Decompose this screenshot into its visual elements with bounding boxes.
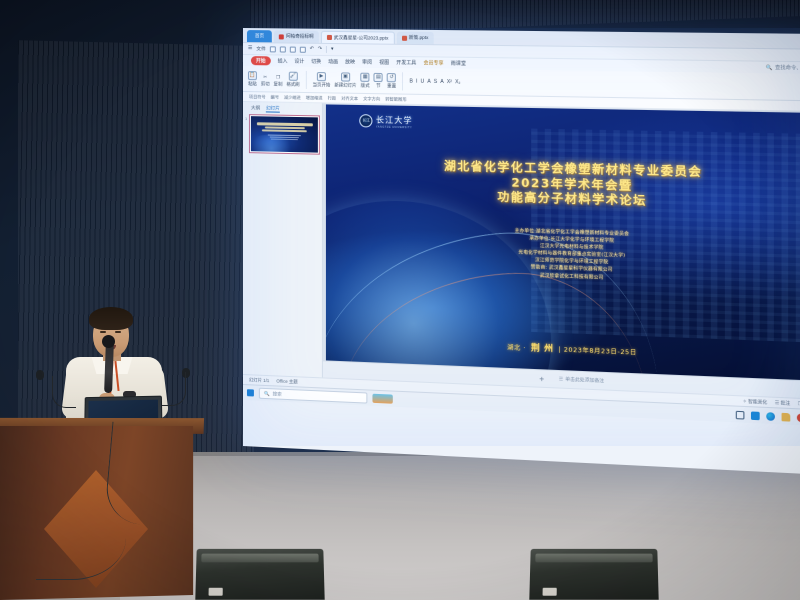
document-tab-1-label: 阿帕奇招标啊: [286, 33, 314, 39]
document-tab-2[interactable]: 武汉鑫星星-公司2023.pptx: [321, 31, 395, 44]
slide-canvas-pane: 长江 长江大学 YANGTZE UNIVERSITY 湖北省化学化工学会橡塑新材…: [323, 103, 800, 399]
document-tab-1[interactable]: 阿帕奇招标啊: [274, 30, 319, 43]
university-seal-icon: 长江: [360, 114, 373, 127]
tab-home[interactable]: 首页: [247, 30, 272, 42]
line-spacing-button[interactable]: 行距: [328, 95, 336, 101]
thumbnail-row[interactable]: 1: [245, 114, 320, 155]
powerpoint-icon: [327, 35, 332, 40]
print-icon[interactable]: [280, 46, 286, 52]
new-slide-button[interactable]: ▣ 新建幻灯片: [334, 72, 356, 88]
ribbon-search[interactable]: 🔍 查找命令、搜索模板: [766, 64, 800, 72]
start-from-page-button[interactable]: ▶ 当页开始: [313, 71, 331, 87]
ribbon-group-clipboard: 📋 粘贴 ✂ 剪切 ❐ 复制 🖌 格式刷: [248, 71, 300, 88]
tab-start[interactable]: 开始: [251, 56, 271, 65]
file-menu-button[interactable]: 文件: [256, 45, 266, 52]
tab-home-label: 首页: [255, 33, 264, 39]
tab-slides[interactable]: 幻灯片: [266, 105, 280, 112]
thumbnail-number: 1: [245, 114, 247, 121]
task-view-icon[interactable]: [736, 410, 745, 419]
cut-button[interactable]: ✂ 剪切: [261, 74, 270, 87]
layout-label: 版式: [361, 82, 370, 88]
tab-rain-classroom[interactable]: 雨课堂: [451, 60, 466, 67]
reset-icon: ↺: [387, 73, 396, 82]
numbering-button[interactable]: 编号: [271, 94, 279, 100]
paste-label: 粘贴: [248, 81, 257, 87]
tab-view[interactable]: 视图: [379, 59, 389, 66]
underline-button[interactable]: U: [420, 78, 424, 84]
file-explorer-icon[interactable]: [782, 412, 791, 421]
increase-indent-button[interactable]: 增加缩进: [306, 95, 323, 101]
mail-icon[interactable]: [751, 411, 760, 420]
convert-smartart-button[interactable]: 转智能图形: [385, 96, 406, 102]
tab-review[interactable]: 审阅: [362, 59, 372, 66]
start-from-page-label: 当页开始: [313, 82, 331, 88]
reset-button[interactable]: ↺ 重置: [387, 73, 396, 89]
hair: [89, 307, 133, 330]
save-icon[interactable]: [270, 46, 276, 52]
edge-icon[interactable]: [766, 412, 775, 421]
reset-label: 重置: [387, 83, 396, 89]
weather-widget[interactable]: [372, 394, 392, 404]
tab-developer[interactable]: 开发工具: [396, 59, 416, 66]
text-effect-button[interactable]: A: [440, 78, 443, 84]
slide-canvas[interactable]: 长江 长江大学 YANGTZE UNIVERSITY 湖北省化学化工学会橡塑新材…: [326, 104, 800, 381]
italic-button[interactable]: I: [416, 78, 417, 84]
align-text-button[interactable]: 对齐文本: [341, 95, 358, 101]
bold-button[interactable]: B: [409, 78, 412, 84]
university-name: 长江大学: [376, 114, 413, 126]
document-tab-2-label: 武汉鑫星星-公司2023.pptx: [334, 34, 389, 41]
layout-icon: ▦: [361, 72, 370, 81]
redo-icon[interactable]: ↷: [318, 47, 322, 52]
tab-outline[interactable]: 大纲: [251, 105, 260, 112]
slide-thumbnail-pane: 大纲 幻灯片 1: [243, 102, 323, 377]
stage-monitor-left: [195, 549, 324, 600]
university-logo: 长江 长江大学 YANGTZE UNIVERSITY: [360, 114, 413, 129]
divider: [326, 46, 327, 53]
ribbon-group-font: B I U A S A X² X₂: [409, 78, 460, 85]
search-icon: 🔍: [264, 390, 270, 396]
stage-monitor-right: [529, 549, 658, 600]
projection-screen: 首页 阿帕奇招标啊 武汉鑫星星-公司2023.pptx 新策.pptx ▽ ✕: [243, 28, 800, 475]
beautify-button[interactable]: ✧ 智能美化: [743, 398, 768, 405]
university-name-english: YANGTZE UNIVERSITY: [376, 125, 413, 129]
document-icon: [279, 34, 284, 39]
section-icon: ▤: [374, 72, 383, 81]
notes-placeholder[interactable]: ☰ 单击此处添加备注: [559, 376, 604, 384]
podium-mic-base-left: [36, 370, 44, 380]
undo-icon[interactable]: ↶: [310, 47, 314, 52]
play-icon: ▶: [317, 72, 326, 81]
theme-name: Office 主题: [276, 378, 297, 385]
slide-counter: 幻灯片 1/1: [249, 377, 269, 384]
search-icon: 🔍: [766, 64, 773, 70]
powerpoint-icon: [402, 35, 407, 40]
footer-city: 荆 州: [531, 343, 554, 354]
document-tab-3[interactable]: 新策.pptx: [397, 32, 434, 45]
taskbar-icons: W: [736, 410, 800, 423]
thumbnail-preview: [251, 116, 318, 152]
paste-button[interactable]: 📋 粘贴: [248, 71, 257, 87]
gooseneck-mic-right: [160, 372, 186, 406]
footer-province: 湖北: [507, 344, 521, 352]
tab-animation[interactable]: 动画: [328, 58, 338, 65]
start-icon[interactable]: [247, 389, 254, 396]
tab-member[interactable]: 会员专享: [423, 59, 443, 66]
text-direction-button[interactable]: 文字方向: [363, 95, 380, 101]
new-slide-label: 新建幻灯片: [334, 82, 356, 88]
ribbon-search-label: 查找命令、搜索模板: [775, 64, 800, 72]
decrease-indent-button[interactable]: 减少缩进: [284, 94, 301, 100]
thumb-title-line-3: [262, 129, 307, 132]
tab-transition[interactable]: 切换: [311, 58, 321, 65]
tab-design[interactable]: 设计: [294, 58, 304, 65]
scissors-icon: ✂: [263, 74, 267, 80]
document-tab-3-label: 新策.pptx: [409, 35, 429, 41]
format-painter-button[interactable]: 🖌 格式刷: [286, 71, 299, 87]
hamburger-icon[interactable]: ☰: [248, 46, 252, 51]
notes-icon: ☰: [559, 376, 563, 382]
format-painter-icon: 🖌: [288, 71, 297, 80]
footer-divider: |: [558, 346, 561, 353]
tab-insert[interactable]: 插入: [278, 57, 288, 64]
thumb-body-line-2: [270, 136, 299, 138]
beautify-label: 智能美化: [748, 398, 767, 404]
gooseneck-mic-left: [52, 376, 76, 408]
layout-button[interactable]: ▦ 版式: [361, 72, 370, 88]
section-label: 节: [376, 83, 380, 89]
eye-left: [100, 331, 106, 333]
copy-icon: ❐: [276, 74, 280, 80]
conference-room-photo: 首页 阿帕奇招标啊 武汉鑫星星-公司2023.pptx 新策.pptx ▽ ✕: [0, 0, 800, 600]
add-slide-button[interactable]: +: [539, 374, 544, 383]
copy-label: 复制: [274, 81, 283, 87]
footer-separator: ·: [524, 345, 527, 352]
eye-right: [115, 331, 121, 333]
cut-label: 剪切: [261, 81, 270, 87]
workspace: 大纲 幻灯片 1: [243, 102, 800, 399]
export-pdf-icon[interactable]: [290, 46, 296, 52]
font-color-button[interactable]: A: [427, 78, 430, 84]
bullets-button[interactable]: 项目符号: [249, 94, 266, 100]
search-input[interactable]: 🔍 搜索: [259, 388, 367, 404]
notes-placeholder-text: 单击此处添加备注: [565, 376, 604, 384]
clipboard-icon: 📋: [248, 71, 257, 80]
ribbon-group-slides: ▶ 当页开始 ▣ 新建幻灯片 ▦ 版式 ▤ 节: [313, 71, 397, 88]
wps-office-window: 首页 阿帕奇招标啊 武汉鑫星星-公司2023.pptx 新策.pptx ▽ ✕: [243, 28, 800, 475]
thumb-body-line-3: [271, 138, 298, 140]
cloud-doc-icon[interactable]: [300, 46, 306, 52]
divider: [306, 70, 307, 88]
microphone-head: [102, 335, 115, 348]
new-slide-icon: ▣: [341, 72, 350, 81]
format-painter-label: 格式刷: [286, 81, 299, 87]
search-placeholder: 搜索: [273, 391, 282, 397]
subscript-button[interactable]: X₂: [455, 79, 460, 85]
divider: [402, 72, 403, 90]
copy-button[interactable]: ❐ 复制: [274, 74, 283, 87]
footer-dates: 2023年8月23日-25日: [564, 346, 637, 356]
tab-slideshow[interactable]: 放映: [345, 58, 355, 65]
comment-label: 批注: [781, 400, 791, 406]
slide-thumbnail-1[interactable]: [249, 114, 320, 155]
customize-toolbar-icon[interactable]: ▾: [331, 47, 333, 52]
strikethrough-button[interactable]: S: [434, 78, 437, 84]
comment-button[interactable]: ☰ 批注: [775, 399, 790, 406]
sparkle-icon: ✧: [743, 398, 747, 403]
superscript-button[interactable]: X²: [447, 79, 452, 85]
comment-icon: ☰: [775, 399, 779, 404]
section-button[interactable]: ▤ 节: [374, 72, 383, 88]
